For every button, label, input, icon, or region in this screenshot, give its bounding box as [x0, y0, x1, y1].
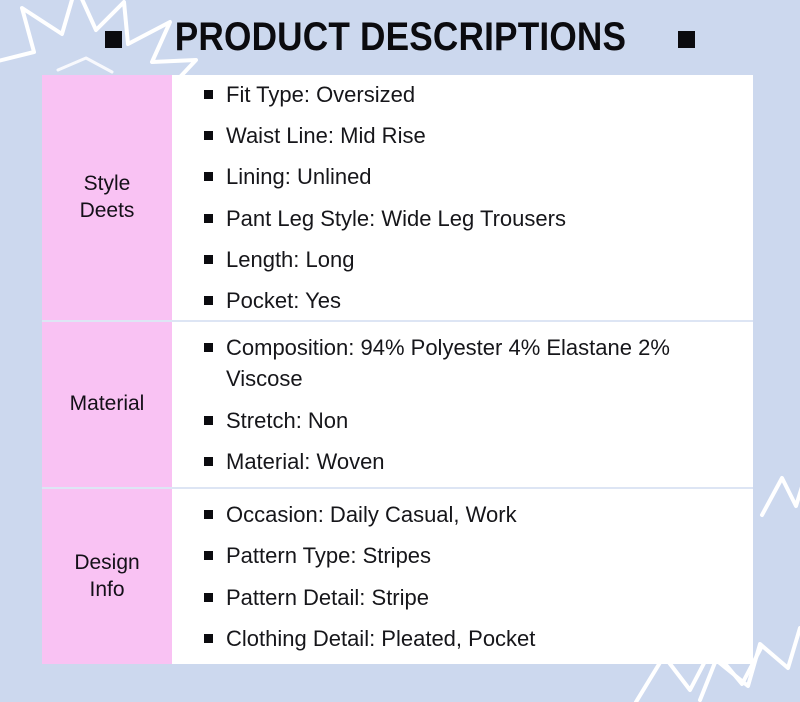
spec-item-text: Occasion: Daily Casual, Work: [226, 499, 727, 530]
row-label-design-info: Design Info: [42, 489, 172, 664]
spec-item-text: Stretch: Non: [226, 405, 727, 436]
spec-item: Lining: Unlined: [204, 156, 727, 197]
spec-item: Fit Type: Oversized: [204, 74, 727, 115]
spec-item-text: Pocket: Yes: [226, 285, 727, 316]
bullet-square-icon: [204, 457, 213, 466]
spec-item-text: Fit Type: Oversized: [226, 79, 727, 110]
row-label-line-2: Info: [89, 578, 124, 601]
squiggle-top-left-card: [58, 58, 112, 72]
bullet-square-icon: [204, 416, 213, 425]
spec-row-material: Material Composition: 94% Polyester 4% E…: [42, 320, 753, 487]
spec-item-text: Waist Line: Mid Rise: [226, 120, 727, 151]
spec-row-style-deets: Style Deets Fit Type: Oversized Waist Li…: [42, 75, 753, 320]
spec-item: Occasion: Daily Casual, Work: [204, 494, 727, 535]
bullet-square-icon: [204, 90, 213, 99]
bullet-square-icon: [204, 593, 213, 602]
bullet-square-icon: [204, 343, 213, 352]
spec-item-text: Composition: 94% Polyester 4% Elastane 2…: [226, 332, 727, 394]
spec-item: Clothing Detail: Pleated, Pocket: [204, 618, 727, 659]
spec-item-text: Material: Woven: [226, 446, 727, 477]
square-marker-left-icon: [105, 31, 122, 48]
zigzag-right-edge: [762, 474, 800, 515]
row-label-line-2: Deets: [80, 199, 135, 222]
spec-item-text: Clothing Detail: Pleated, Pocket: [226, 623, 727, 654]
spec-item: Material: Woven: [204, 441, 727, 482]
bullet-square-icon: [204, 296, 213, 305]
spec-item: Stretch: Non: [204, 400, 727, 441]
bullet-square-icon: [204, 214, 213, 223]
spec-item: Pant Leg Style: Wide Leg Trousers: [204, 198, 727, 239]
page-title: PRODUCT DESCRIPTIONS: [0, 17, 800, 57]
spec-item-text: Pant Leg Style: Wide Leg Trousers: [226, 203, 727, 234]
spec-items-design-info: Occasion: Daily Casual, Work Pattern Typ…: [172, 489, 753, 664]
row-label-line-1: Style: [84, 172, 131, 195]
bullet-square-icon: [204, 255, 213, 264]
row-label-line-1: Material: [70, 391, 145, 418]
spec-item: Length: Long: [204, 239, 727, 280]
square-marker-right-icon: [678, 31, 695, 48]
spec-item: Composition: 94% Polyester 4% Elastane 2…: [204, 327, 727, 399]
bullet-square-icon: [204, 551, 213, 560]
bullet-square-icon: [204, 634, 213, 643]
bullet-square-icon: [204, 131, 213, 140]
spec-item: Pattern Type: Stripes: [204, 535, 727, 576]
spec-item-text: Length: Long: [226, 244, 727, 275]
product-specs-card: Style Deets Fit Type: Oversized Waist Li…: [42, 75, 753, 660]
spec-item: Pattern Detail: Stripe: [204, 577, 727, 618]
spec-items-style-deets: Fit Type: Oversized Waist Line: Mid Rise…: [172, 75, 753, 320]
spec-item-text: Lining: Unlined: [226, 161, 727, 192]
spec-item: Waist Line: Mid Rise: [204, 115, 727, 156]
bullet-square-icon: [204, 172, 213, 181]
row-label-style-deets: Style Deets: [42, 75, 172, 320]
bullet-square-icon: [204, 510, 213, 519]
row-label-material: Material: [42, 322, 172, 487]
spec-items-material: Composition: 94% Polyester 4% Elastane 2…: [172, 322, 753, 487]
row-label-line-1: Design: [74, 551, 139, 574]
spec-item-text: Pattern Type: Stripes: [226, 540, 727, 571]
spec-item-text: Pattern Detail: Stripe: [226, 582, 727, 613]
spec-item: Pocket: Yes: [204, 280, 727, 321]
page-title-text: PRODUCT DESCRIPTIONS: [174, 17, 625, 57]
spec-row-design-info: Design Info Occasion: Daily Casual, Work…: [42, 487, 753, 664]
